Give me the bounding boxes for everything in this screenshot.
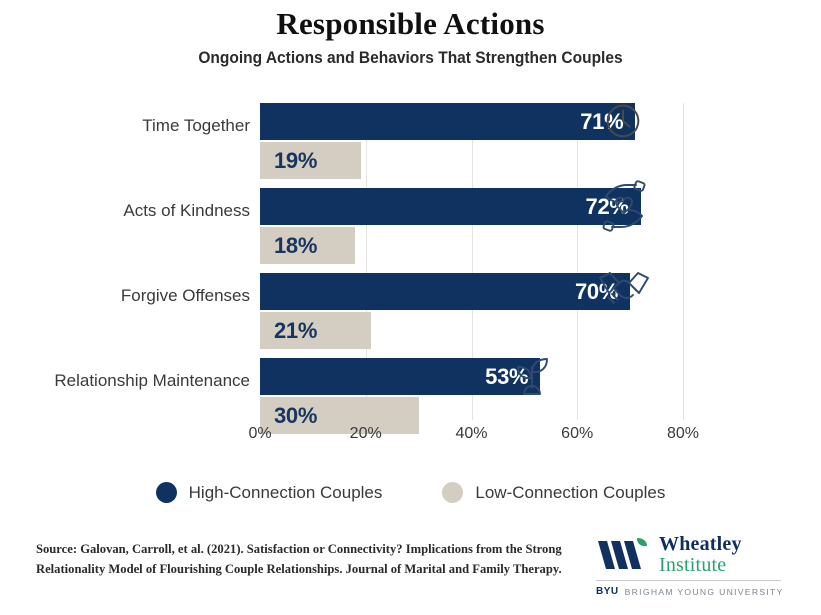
wheatley-institute-logo: Wheatley Institute BYU BRIGHAM YOUNG UNI… (596, 534, 781, 597)
gridline-60 (577, 103, 578, 420)
source-citation: Source: Galovan, Carroll, et al. (2021).… (36, 540, 581, 579)
hands-heart-icon (598, 180, 650, 232)
bar-low-acts-of-kindness[interactable]: 18% (260, 227, 355, 264)
bar-high-relationship-maintenance[interactable]: 53% (260, 358, 540, 395)
bar-value: 21% (260, 318, 317, 344)
category-label: Time Together (0, 116, 250, 136)
x-tick: 80% (667, 425, 699, 443)
chart-footer: Source: Galovan, Carroll, et al. (2021).… (0, 536, 821, 606)
chart-subtitle: Ongoing Actions and Behaviors That Stren… (25, 49, 797, 69)
legend-label: High-Connection Couples (189, 483, 383, 503)
clock-icon (600, 98, 646, 144)
legend-swatch-icon (442, 482, 463, 503)
logo-word-institute: Institute (659, 555, 742, 575)
legend-item-high-connection[interactable]: High-Connection Couples (156, 482, 383, 503)
handshake-icon (596, 266, 652, 312)
bar-low-forgive-offenses[interactable]: 21% (260, 312, 371, 349)
bar-high-time-together[interactable]: 71% (260, 103, 635, 140)
category-label: Relationship Maintenance (0, 371, 250, 391)
x-axis-ticks: 0% 20% 40% 60% 80% (260, 425, 720, 451)
page-title: Responsible Actions (0, 6, 821, 42)
logo-word-wheatley: Wheatley (659, 534, 742, 554)
wheatley-w-mark-icon (596, 537, 650, 573)
bars-container: 71% 19% 72% 18% 70% 21% 53% 30% (260, 90, 720, 420)
x-tick: 20% (350, 425, 382, 443)
seedling-icon (508, 352, 556, 400)
bar-low-time-together[interactable]: 19% (260, 142, 361, 179)
bar-value: 18% (260, 233, 317, 259)
logo-wordmark: Wheatley Institute (659, 534, 742, 575)
byu-full-label: BRIGHAM YOUNG UNIVERSITY (625, 587, 784, 597)
logo-divider (596, 580, 781, 581)
byu-label: BYU (596, 586, 619, 597)
bar-value: 19% (260, 148, 317, 174)
category-label: Forgive Offenses (0, 286, 250, 306)
gridline-80 (683, 103, 684, 420)
legend-swatch-icon (156, 482, 177, 503)
legend-item-low-connection[interactable]: Low-Connection Couples (442, 482, 665, 503)
category-axis-labels: Time Together Acts of Kindness Forgive O… (0, 90, 250, 420)
legend-label: Low-Connection Couples (475, 483, 665, 503)
logo-bottom-row: BYU BRIGHAM YOUNG UNIVERSITY (596, 586, 781, 597)
x-tick: 40% (455, 425, 487, 443)
chart-legend: High-Connection Couples Low-Connection C… (0, 482, 821, 503)
chart-header: Responsible Actions Ongoing Actions and … (0, 0, 821, 68)
bar-high-forgive-offenses[interactable]: 70% (260, 273, 630, 310)
logo-top-row: Wheatley Institute (596, 534, 781, 575)
category-label: Acts of Kindness (0, 201, 250, 221)
chart-plot-area: Time Together Acts of Kindness Forgive O… (0, 90, 821, 450)
x-tick: 0% (248, 425, 271, 443)
bar-high-acts-of-kindness[interactable]: 72% (260, 188, 641, 225)
x-tick: 60% (561, 425, 593, 443)
